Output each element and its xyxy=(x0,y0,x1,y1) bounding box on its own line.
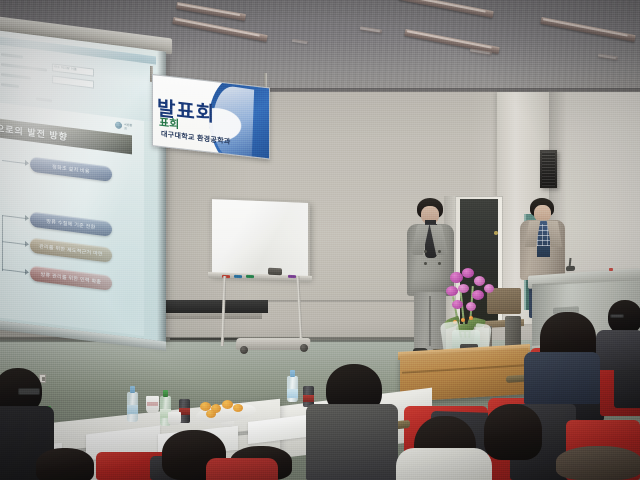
tangerine xyxy=(233,404,243,412)
orchid-bloom xyxy=(452,300,463,309)
app-text-line xyxy=(36,97,52,102)
audience-body xyxy=(524,352,600,404)
microphone-base-icon xyxy=(566,266,575,272)
audience-body xyxy=(596,330,640,370)
app-input-field[interactable] xyxy=(52,75,94,88)
water-bottle[interactable] xyxy=(127,392,138,422)
cup-band xyxy=(147,402,158,406)
bottle-label xyxy=(127,405,138,414)
podium-indicator-light xyxy=(609,268,613,271)
orchid-bloom xyxy=(474,276,485,286)
slide-pill-2: 방류 수질에 기준 전환 xyxy=(30,212,112,237)
app-text-line xyxy=(1,83,19,88)
audience-body xyxy=(206,458,278,480)
audience-head xyxy=(484,404,542,460)
accent-flower xyxy=(461,318,465,322)
logo-text: 국립환경 xyxy=(124,122,135,131)
connector-line xyxy=(2,160,26,164)
connector-line xyxy=(2,241,26,245)
paper-cup[interactable] xyxy=(146,396,159,413)
slide-body: 국립환경 으로의 발전 방향 정화조 설치 비용 방류 수질에 기준 전환 관리… xyxy=(0,102,144,336)
orchid-bloom xyxy=(450,272,463,283)
tangerine xyxy=(206,410,216,418)
app-text-line xyxy=(1,53,23,59)
coat-button-icon xyxy=(424,250,427,253)
whiteboard-surface xyxy=(212,199,308,277)
tangerine xyxy=(222,400,233,409)
eyeglasses-icon xyxy=(18,388,40,395)
whiteboard-marker-icon[interactable] xyxy=(246,275,254,278)
app-text-line xyxy=(1,63,47,72)
trouser-seam xyxy=(429,296,431,346)
orchid-bloom xyxy=(446,286,458,296)
slide-pill-4: 방류 관리를 위한 인력 확충 xyxy=(30,266,112,291)
whiteboard xyxy=(210,197,310,279)
whiteboard-caster-icon xyxy=(240,346,248,354)
speaker-grill xyxy=(542,152,555,186)
whiteboard-caster-icon xyxy=(300,344,308,352)
coat-button-icon xyxy=(424,262,427,265)
orchid-bloom xyxy=(462,268,474,278)
orchid-bloom xyxy=(466,302,476,311)
slide-pill-1: 정화조 설치 비용 xyxy=(30,157,112,182)
orchid-bloom xyxy=(458,284,469,293)
orchid-bloom xyxy=(472,290,484,300)
can-label xyxy=(303,395,314,402)
audience-head xyxy=(556,446,640,480)
connector-line xyxy=(2,215,3,271)
app-text-line xyxy=(1,73,31,80)
logo-mark-icon xyxy=(115,121,122,129)
paper-cup[interactable] xyxy=(168,412,181,425)
photo-scene: 하수 처리장 이름 국립환경 으로의 발전 방향 xyxy=(0,0,640,480)
whiteboard-eraser-icon[interactable] xyxy=(268,268,282,276)
accent-flower xyxy=(469,316,473,320)
slide-pill-3: 관리를 위한 제도적근거 마련 xyxy=(30,238,112,263)
bottle-label xyxy=(287,389,298,398)
connector-line xyxy=(2,215,26,219)
slide-logo: 국립환경 xyxy=(115,120,135,132)
connector-arrow-icon xyxy=(25,241,29,248)
projection-screen: 하수 처리장 이름 국립환경 으로의 발전 방향 xyxy=(0,30,166,342)
water-bottle[interactable] xyxy=(287,376,298,402)
door-knob-icon[interactable] xyxy=(494,231,498,235)
orchid-bloom xyxy=(484,284,494,293)
connector-arrow-icon xyxy=(25,160,29,167)
connector-arrow-icon xyxy=(25,269,29,276)
whiteboard-marker-icon[interactable] xyxy=(288,275,296,278)
coat-button-icon xyxy=(438,262,441,265)
slide-header-bar: 으로의 발전 방향 xyxy=(0,117,132,154)
eyeglasses-icon xyxy=(610,314,624,318)
connector-line xyxy=(2,269,26,273)
audience-body xyxy=(306,404,398,480)
slide-title: 으로의 발전 방향 xyxy=(0,121,68,143)
whiteboard-marker-icon[interactable] xyxy=(234,275,242,278)
audience-body xyxy=(396,448,492,480)
coat-button-icon xyxy=(438,250,441,253)
audience-head xyxy=(36,448,94,480)
wall-speaker-icon xyxy=(540,150,557,188)
connector-arrow-icon xyxy=(25,215,29,222)
projected-slide: 하수 처리장 이름 국립환경 으로의 발전 방향 xyxy=(0,30,166,342)
event-banner: 발표회 표회 대구대학교 환경공학과 xyxy=(152,74,270,159)
